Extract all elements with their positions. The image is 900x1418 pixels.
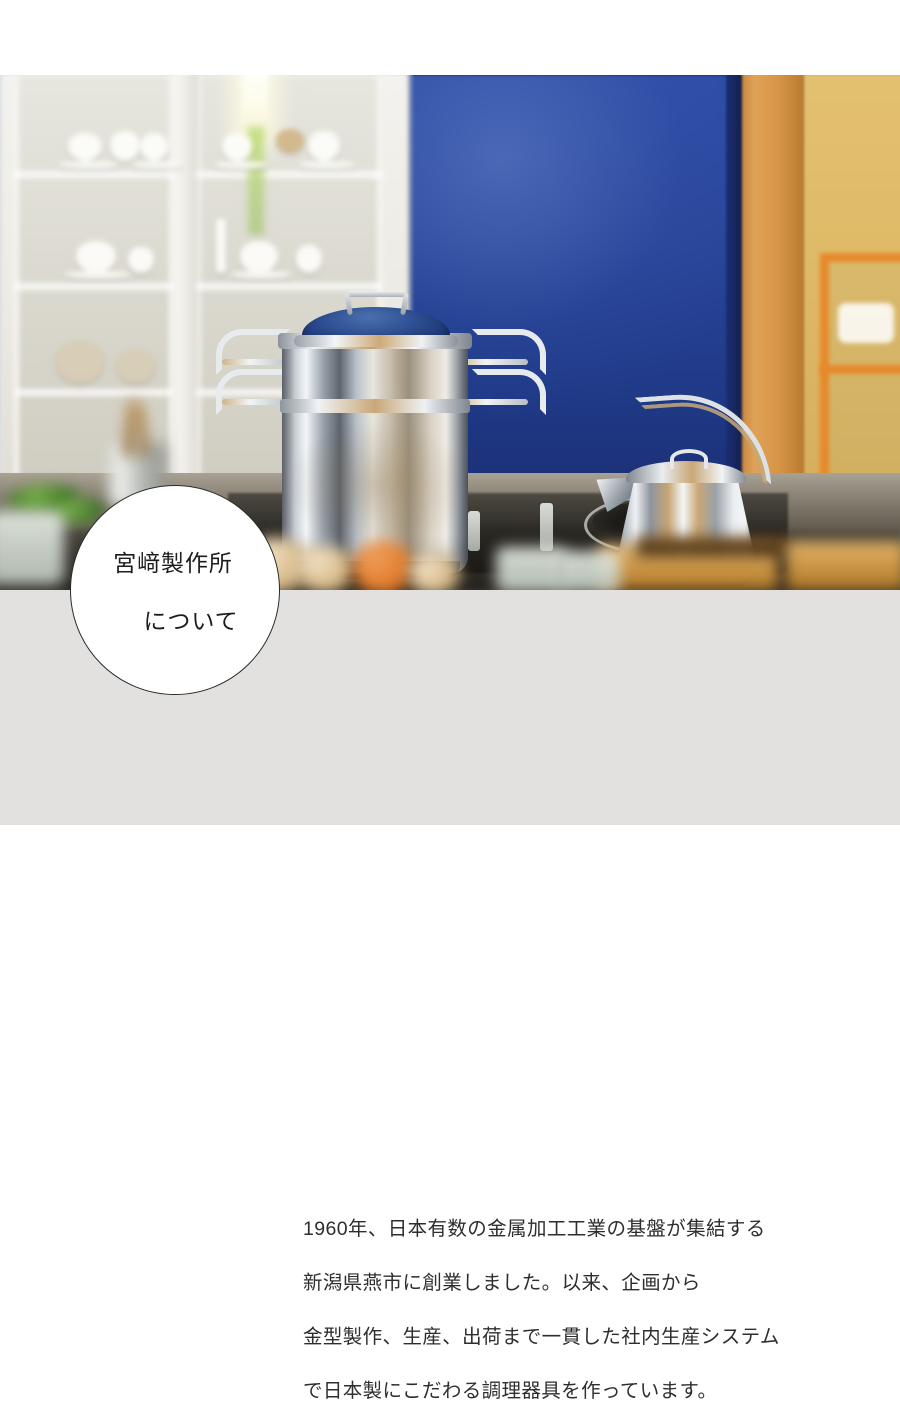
teacup xyxy=(308,131,340,161)
pot-mid-band xyxy=(280,399,470,413)
section-title-badge: 宮﨑製作所 について xyxy=(70,485,280,695)
utensil xyxy=(216,219,226,273)
bowl xyxy=(56,341,104,383)
small-bowl xyxy=(128,247,154,273)
kettle-lid-knob xyxy=(670,449,708,469)
cabinet-left-edge xyxy=(0,75,2,501)
teacup xyxy=(76,241,116,273)
body-line-1: 1960年、日本有数の金属加工工業の基盤が集結する xyxy=(303,1202,863,1256)
bottom-white-margin xyxy=(0,825,900,900)
badge-title-line-1: 宮﨑製作所 xyxy=(71,544,281,578)
badge-title-line-2: について xyxy=(71,602,281,636)
teacup xyxy=(140,133,168,161)
glass-jar xyxy=(0,511,64,585)
saucer xyxy=(64,271,132,279)
onion xyxy=(408,553,460,590)
teacup xyxy=(110,131,140,161)
cabinet-shelf xyxy=(14,171,174,178)
pot-lid-handle xyxy=(346,291,406,297)
about-body-copy: 1960年、日本有数の金属加工工業の基盤が集結する 新潟県燕市に創業しました。以… xyxy=(303,1202,863,1418)
board-edge xyxy=(636,537,792,557)
saucer xyxy=(58,161,120,169)
about-page: 1960年、日本有数の金属加工工業の基盤が集結する 新潟県燕市に創業しました。以… xyxy=(0,0,900,900)
tomato xyxy=(352,541,414,590)
teacup xyxy=(222,133,252,161)
cabinet-shelf xyxy=(14,389,174,396)
pot-handle-hook xyxy=(472,369,546,415)
cabinet-shelf xyxy=(14,283,174,290)
cabinet-mullion xyxy=(176,75,198,497)
top-white-margin xyxy=(0,0,900,75)
cabinet-shelf xyxy=(196,171,382,178)
body-line-2: 新潟県燕市に創業しました。以来、企画から xyxy=(303,1256,863,1310)
pitcher xyxy=(276,129,304,153)
pot-body-reflection xyxy=(282,341,468,573)
bowl xyxy=(116,349,156,383)
wood-shelf-line xyxy=(820,365,900,374)
pot-lid-edge xyxy=(294,335,458,347)
glass xyxy=(296,245,322,273)
saucer xyxy=(298,161,356,169)
shelf-object xyxy=(838,303,894,343)
saucer xyxy=(214,161,268,169)
onion xyxy=(296,545,354,590)
body-line-3: 金型製作、生産、出荷まで一貫した社内生産システム xyxy=(303,1310,863,1364)
glass-jar xyxy=(556,551,620,590)
cutting-board xyxy=(786,541,900,590)
teacup xyxy=(68,133,102,161)
pot-handle-hook xyxy=(216,369,290,415)
saucer xyxy=(130,161,184,169)
burner-grate xyxy=(540,503,553,551)
body-line-4: で日本製にこだわる調理器具を作っています。 xyxy=(303,1364,863,1418)
teacup xyxy=(240,241,278,273)
